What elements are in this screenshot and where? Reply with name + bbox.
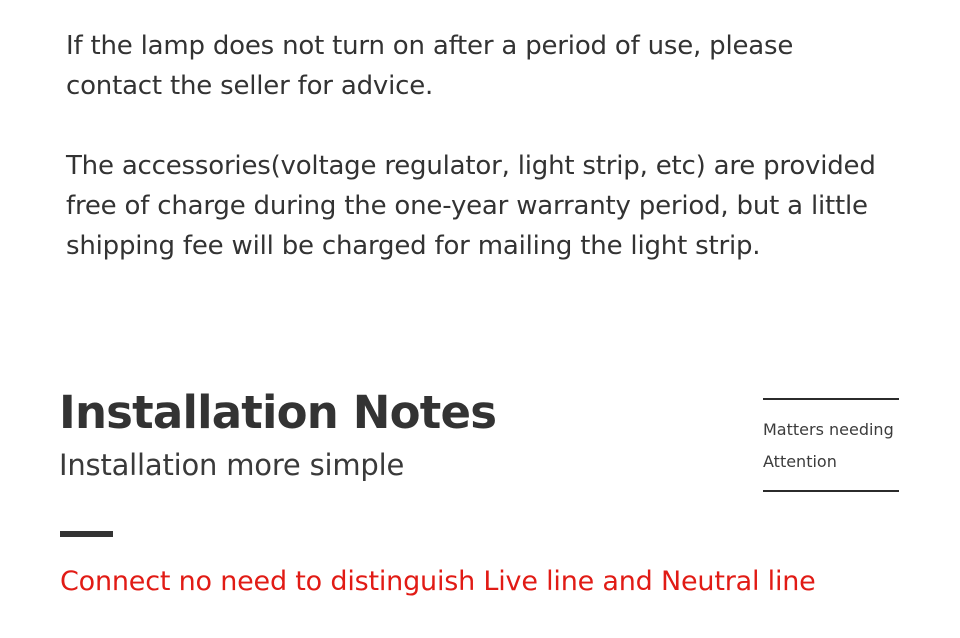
- intro-paragraph-1: If the lamp does not turn on after a per…: [66, 26, 896, 106]
- document-page: If the lamp does not turn on after a per…: [0, 0, 960, 638]
- paragraph-spacer: [66, 106, 896, 146]
- intro-text-block: If the lamp does not turn on after a per…: [66, 26, 896, 266]
- intro-paragraph-2: The accessories(voltage regulator, light…: [66, 146, 896, 266]
- section-title: Installation Notes: [59, 385, 679, 441]
- caption-text: Matters needing Attention: [763, 400, 899, 490]
- red-note-text: Connect no need to distinguish Live line…: [60, 563, 816, 601]
- accent-divider-bar: [60, 531, 113, 537]
- section-subtitle: Installation more simple: [59, 445, 679, 485]
- attention-caption-box: Matters needing Attention: [763, 398, 899, 492]
- caption-line-1: Matters needing: [763, 414, 899, 446]
- caption-rule-bottom: [763, 490, 899, 492]
- caption-line-2: Attention: [763, 446, 899, 478]
- section-heading-group: Installation Notes Installation more sim…: [59, 385, 679, 485]
